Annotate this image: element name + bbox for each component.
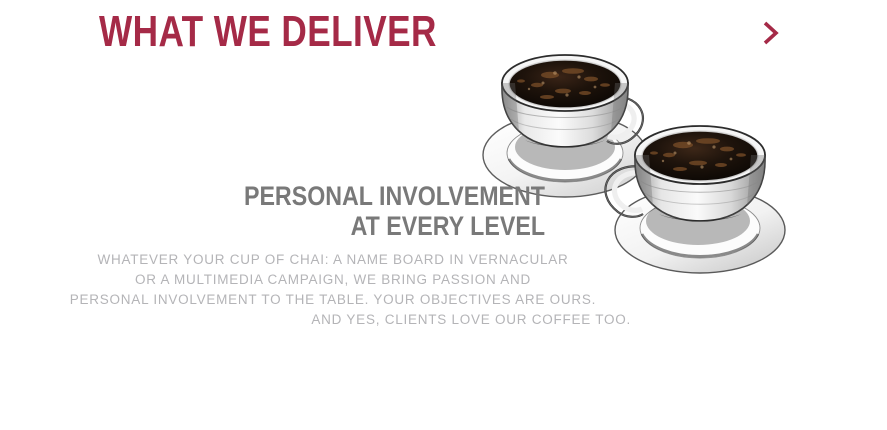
coffee-cup-front [605, 126, 785, 273]
coffee-cup-back [483, 55, 647, 197]
body-line-2: OR A MULTIMEDIA CAMPAIGN, WE BRING PASSI… [35, 270, 631, 290]
chevron-right-icon[interactable] [757, 18, 783, 48]
page-title: WHAT WE DELIVER [99, 8, 437, 56]
subheading-line-1: PERSONAL INVOLVEMENT [201, 181, 545, 211]
two-coffee-cups-photo [455, 35, 805, 285]
body-line-1: WHATEVER YOUR CUP OF CHAI: A NAME BOARD … [35, 250, 631, 270]
body-line-4: AND YES, CLIENTS LOVE OUR COFFEE TOO. [35, 310, 631, 330]
subheading-line-2: AT EVERY LEVEL [201, 211, 545, 241]
section-subheading: PERSONAL INVOLVEMENT AT EVERY LEVEL [145, 181, 545, 241]
body-line-3: PERSONAL INVOLVEMENT TO THE TABLE. YOUR … [35, 290, 631, 310]
slide-canvas: WHAT WE DELIVER PERSONAL INVOLVEMENT AT … [0, 0, 887, 430]
body-paragraph: WHATEVER YOUR CUP OF CHAI: A NAME BOARD … [35, 250, 631, 330]
